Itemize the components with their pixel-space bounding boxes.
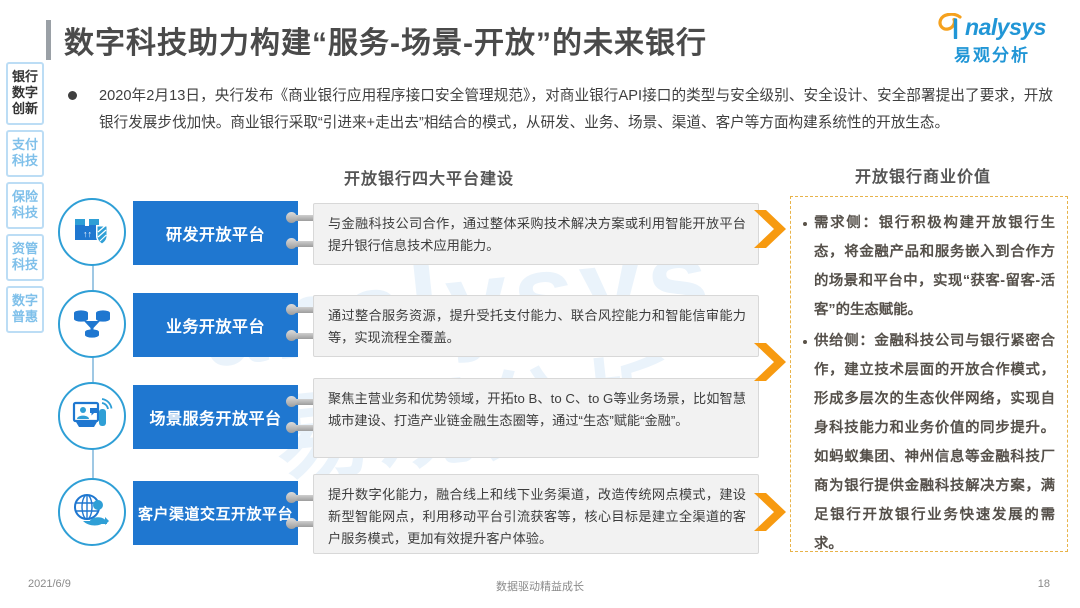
- platform-box[interactable]: 研发开放平台: [133, 201, 298, 265]
- title-text: 数字科技助力构建“服务-场景-开放”的未来银行: [64, 18, 707, 62]
- logo-wordmark: nalysys: [965, 15, 1046, 39]
- platform-description: 聚焦主营业务和优势领域，开拓to B、to C、to G等业务场景，比如智慧城市…: [313, 378, 759, 458]
- platform-description: 与金融科技公司合作，通过整体采购技术解决方案或利用智能开放平台提升银行信息技术应…: [313, 203, 759, 265]
- sidebar-item-inclusive-finance[interactable]: 数字普惠: [6, 286, 44, 333]
- sidebar-item-asset-mgmt[interactable]: 资管科技: [6, 234, 44, 281]
- platform-box[interactable]: 场景服务开放平台: [133, 385, 298, 449]
- intro-paragraph: 2020年2月13日，央行发布《商业银行应用程序接口安全管理规范》，对商业银行A…: [68, 83, 1053, 137]
- sidebar-item-payment[interactable]: 支付科技: [6, 130, 44, 177]
- sidebar-item-label: 支付科技: [8, 137, 42, 169]
- sidebar-item-label: 银行数字创新: [8, 69, 42, 117]
- intro-text: 2020年2月13日，央行发布《商业银行应用程序接口安全管理规范》，对商业银行A…: [99, 83, 1053, 137]
- svg-text:↑↑: ↑↑: [83, 229, 92, 239]
- footer-page-number: 18: [1038, 578, 1050, 590]
- monitor-user-icon: [58, 382, 126, 450]
- title-rule: [46, 20, 51, 60]
- value-text: 需求侧：银行积极构建开放银行生态，将金融产品和服务嵌入到合作方的场景和平台中，实…: [814, 209, 1055, 325]
- sidebar-item-label: 资管科技: [8, 241, 42, 273]
- heading-left: 开放银行四大平台建设: [344, 165, 514, 189]
- sidebar: 银行数字创新 支付科技 保险科技 资管科技 数字普惠: [6, 62, 46, 338]
- footer-slogan: 数据驱动精益成长: [0, 578, 1080, 594]
- value-text: 供给侧：金融科技公司与银行紧密合作，建立技术层面的开放合作模式，形成多层次的生态…: [814, 327, 1055, 559]
- package-shield-icon: ↑↑: [58, 198, 126, 266]
- bullet-icon: [803, 222, 807, 226]
- sidebar-item-label: 保险科技: [8, 189, 42, 221]
- bullet-icon: [68, 91, 77, 100]
- page-title: 数字科技助力构建“服务-场景-开放”的未来银行: [46, 18, 707, 62]
- bullet-icon: [803, 340, 807, 344]
- value-point: 供给侧：金融科技公司与银行紧密合作，建立技术层面的开放合作模式，形成多层次的生态…: [801, 327, 1055, 559]
- value-point: 需求侧：银行积极构建开放银行生态，将金融产品和服务嵌入到合作方的场景和平台中，实…: [801, 209, 1055, 325]
- sidebar-item-insurance[interactable]: 保险科技: [6, 182, 44, 229]
- platform-description: 通过整合服务资源，提升受托支付能力、联合风控能力和智能信审能力等，实现流程全覆盖…: [313, 295, 759, 357]
- platform-description: 提升数字化能力，融合线上和线下业务渠道，改造传统网点模式，建设新型智能网点，利用…: [313, 474, 759, 554]
- globe-user-icon: [58, 478, 126, 546]
- sidebar-item-bank-digital[interactable]: 银行数字创新: [6, 62, 44, 125]
- logo-chinese: 易观分析: [922, 41, 1062, 66]
- chevron-right-icon: [752, 490, 790, 534]
- platform-name: 业务开放平台: [166, 313, 265, 337]
- analysys-logo: nalysys 易观分析: [922, 11, 1062, 66]
- footer: 2021/6/9 数据驱动精益成长 18: [0, 578, 1080, 598]
- database-funnel-icon: [58, 290, 126, 358]
- platform-name: 研发开放平台: [166, 221, 265, 245]
- slide-root: analysys 易观分析 数字科技助力构建“服务-场景-开放”的未来银行 na…: [0, 0, 1080, 608]
- platform-name: 场景服务开放平台: [149, 405, 281, 429]
- business-value-panel: 需求侧：银行积极构建开放银行生态，将金融产品和服务嵌入到合作方的场景和平台中，实…: [790, 196, 1068, 552]
- platform-box[interactable]: 业务开放平台: [133, 293, 298, 357]
- chevron-right-icon: [752, 340, 790, 384]
- heading-right: 开放银行商业价值: [855, 163, 991, 187]
- logo-swoosh-icon: [938, 13, 964, 39]
- chevron-right-icon: [752, 207, 790, 251]
- platform-box[interactable]: 客户渠道交互开放平台: [133, 481, 298, 545]
- sidebar-item-label: 数字普惠: [8, 293, 42, 325]
- platform-name: 客户渠道交互开放平台: [138, 503, 293, 524]
